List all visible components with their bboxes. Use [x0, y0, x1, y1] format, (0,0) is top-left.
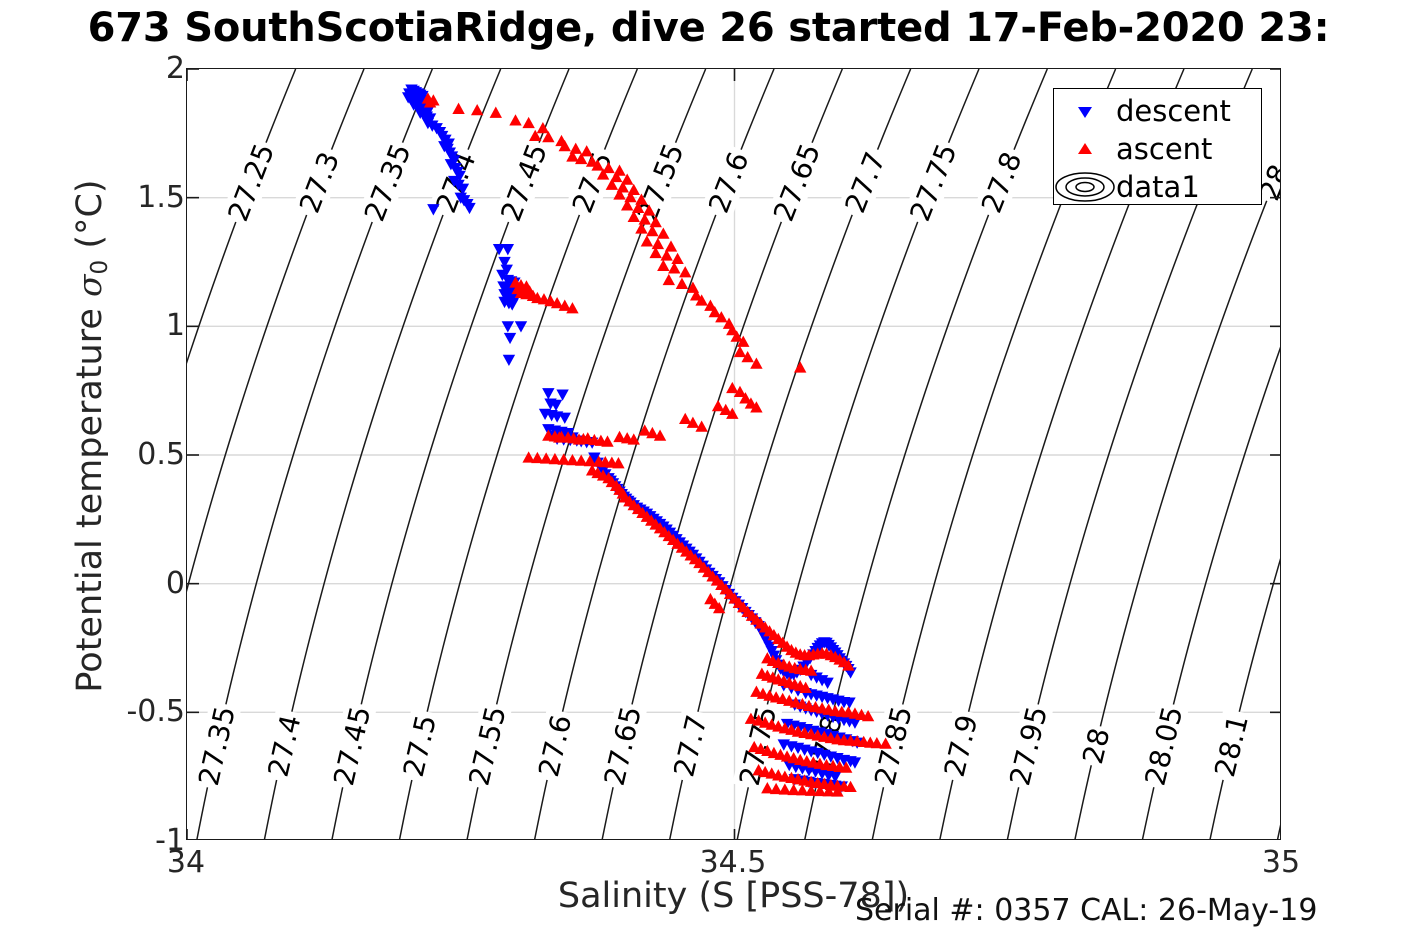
svg-text:27.9: 27.9 — [938, 712, 985, 780]
svg-text:27.8: 27.8 — [975, 147, 1029, 217]
contour-label: 27.25 — [221, 137, 282, 228]
svg-text:27.45: 27.45 — [327, 703, 377, 789]
svg-text:27.7: 27.7 — [838, 147, 892, 217]
svg-text:27.75: 27.75 — [903, 139, 963, 226]
contour-label: 27.55 — [462, 701, 513, 791]
svg-text:27.4: 27.4 — [262, 712, 308, 780]
legend-label-ascent: ascent — [1116, 134, 1212, 164]
contour-label: 28.05 — [1138, 701, 1190, 791]
contour-label: 27.35 — [191, 701, 242, 791]
contour-label: 27.6 — [531, 708, 579, 784]
contour-label: 27.5 — [396, 708, 444, 784]
y-tick-label: 0 — [65, 566, 185, 601]
svg-text:27.35: 27.35 — [358, 139, 418, 226]
legend-item-descent[interactable]: descent — [1054, 91, 1261, 130]
contour-label: 27.55 — [630, 137, 692, 228]
svg-text:27.45: 27.45 — [494, 139, 554, 226]
svg-text:27.6: 27.6 — [702, 147, 755, 217]
down-triangle-marker-icon — [1054, 91, 1116, 130]
contour-label: 28 — [1076, 723, 1117, 770]
svg-text:28.1: 28.1 — [1208, 712, 1255, 780]
svg-text:28.05: 28.05 — [1138, 703, 1189, 789]
sigma-subscript: 0 — [87, 260, 113, 275]
serial-cal-footer: Serial #: 0357 CAL: 26-May-19 — [855, 893, 1317, 928]
legend-label-descent: descent — [1116, 96, 1231, 126]
legend-item-ascent[interactable]: ascent — [1054, 129, 1261, 168]
x-tick-label: 34 — [116, 845, 256, 880]
contour-label: 27.3 — [291, 144, 347, 221]
x-tick-label: 35 — [1211, 845, 1351, 880]
y-tick-label: 1 — [65, 308, 185, 343]
y-tick-label: -0.5 — [65, 694, 185, 729]
svg-text:27.25: 27.25 — [221, 139, 281, 226]
contour-label: 27.45 — [493, 137, 555, 228]
figure-title-text: 673 SouthScotiaRidge, dive 26 started 17… — [88, 2, 1330, 54]
contour-label: 27.45 — [327, 701, 378, 791]
y-tick-label: 1.5 — [65, 180, 185, 215]
svg-text:28: 28 — [1076, 725, 1116, 767]
svg-text:27.7: 27.7 — [667, 712, 713, 780]
contour-label: 27.9 — [937, 708, 985, 784]
up-triangle-marker-icon — [1054, 129, 1116, 168]
sigma-symbol: σ — [70, 274, 109, 297]
svg-text:27.6: 27.6 — [532, 712, 578, 780]
contour-label: 27.7 — [837, 144, 893, 221]
contour-label: 27.4 — [261, 708, 309, 784]
svg-text:27.5: 27.5 — [397, 712, 443, 780]
legend-item-data1[interactable]: data1 — [1054, 167, 1261, 206]
svg-text:27.3: 27.3 — [293, 147, 346, 217]
contour-label: 27.35 — [357, 137, 418, 228]
contour-label: 27.65 — [766, 137, 828, 228]
contour-label: 27.7 — [666, 708, 714, 784]
svg-text:27.55: 27.55 — [462, 703, 512, 789]
svg-text:27.65: 27.65 — [767, 139, 827, 226]
contour-label: 27.65 — [597, 701, 648, 791]
svg-text:27.95: 27.95 — [1003, 703, 1054, 789]
legend-box[interactable]: descent ascent data1 — [1053, 88, 1262, 205]
x-tick-label: 34.5 — [663, 845, 803, 880]
figure-title: 673 SouthScotiaRidge, dive 26 started 17… — [0, 2, 1417, 56]
figure-root: 673 SouthScotiaRidge, dive 26 started 17… — [0, 0, 1417, 945]
contour-label: 27.8 — [973, 144, 1029, 221]
contour-ellipses-icon — [1054, 167, 1116, 206]
contour-label: 28.1 — [1207, 708, 1256, 784]
contour-label: 27.75 — [902, 137, 964, 228]
svg-text:27.65: 27.65 — [598, 703, 648, 789]
contour-label: 27.95 — [1003, 701, 1055, 791]
y-tick-label: 0.5 — [65, 437, 185, 472]
svg-text:27.35: 27.35 — [192, 703, 242, 788]
y-tick-label: 2 — [65, 51, 185, 86]
legend-label-data1: data1 — [1116, 172, 1200, 202]
y-axis-label-prefix: Potential temperature — [70, 297, 110, 693]
contour-label: 27.6 — [701, 144, 757, 221]
